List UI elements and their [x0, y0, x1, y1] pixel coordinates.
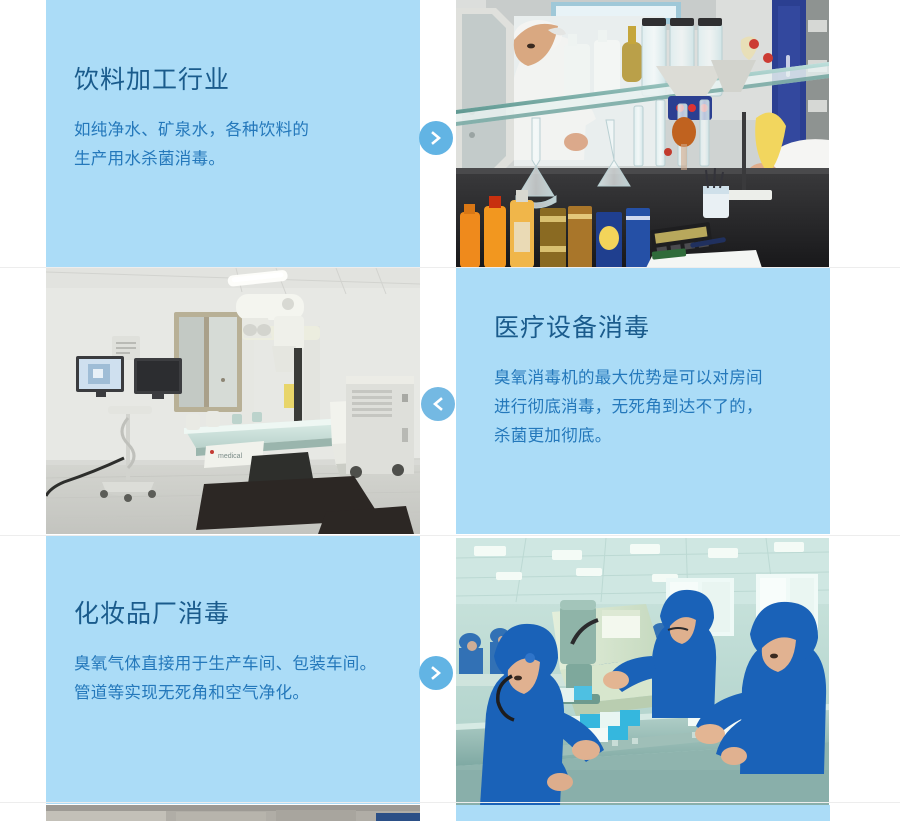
- section-4-text-panel: [456, 805, 830, 821]
- section-1-body: 如纯净水、矿泉水，各种饮料的 生产用水杀菌消毒。: [74, 116, 406, 174]
- section-2-prev-badge[interactable]: [421, 387, 455, 421]
- medical-xray-room-photo: medical: [46, 268, 420, 534]
- chevron-left-icon: [430, 396, 446, 412]
- section-row-1: 饮料加工行业 如纯净水、矿泉水，各种饮料的 生产用水杀菌消毒。: [0, 0, 900, 268]
- cosmetics-factory-photo: [456, 538, 829, 806]
- section-row-3: 化妆品厂消毒 臭氧气体直接用于生产车间、包装车间。 管道等实现无死角和空气净化。: [0, 536, 900, 804]
- section-3-body: 臭氧气体直接用于生产车间、包装车间。 管道等实现无死角和空气净化。: [74, 650, 406, 708]
- section-2-body: 臭氧消毒机的最大优势是可以对房间 进行彻底消毒，无死角到达不了的， 杀菌更加彻底…: [494, 364, 816, 451]
- beverage-lab-photo: [456, 0, 829, 268]
- section-2-title: 医疗设备消毒: [494, 308, 816, 344]
- chevron-right-icon: [428, 130, 444, 146]
- section-1-text-panel: 饮料加工行业 如纯净水、矿泉水，各种饮料的 生产用水杀菌消毒。: [46, 0, 420, 268]
- industrial-outdoor-photo: [46, 805, 420, 821]
- section-1-title: 饮料加工行业: [74, 60, 406, 96]
- section-row-4: [0, 805, 900, 821]
- section-3-next-badge[interactable]: [419, 656, 453, 690]
- chevron-right-icon: [428, 665, 444, 681]
- section-1-next-badge[interactable]: [419, 121, 453, 155]
- industry-application-grid: 饮料加工行业 如纯净水、矿泉水，各种饮料的 生产用水杀菌消毒。: [0, 0, 900, 821]
- section-2-text-panel: 医疗设备消毒 臭氧消毒机的最大优势是可以对房间 进行彻底消毒，无死角到达不了的，…: [456, 268, 830, 534]
- svg-text:medical: medical: [218, 453, 243, 460]
- section-3-text-panel: 化妆品厂消毒 臭氧气体直接用于生产车间、包装车间。 管道等实现无死角和空气净化。: [46, 536, 420, 804]
- section-3-title: 化妆品厂消毒: [74, 594, 406, 630]
- row-divider-3: [0, 802, 900, 803]
- section-row-2: medical: [0, 268, 900, 536]
